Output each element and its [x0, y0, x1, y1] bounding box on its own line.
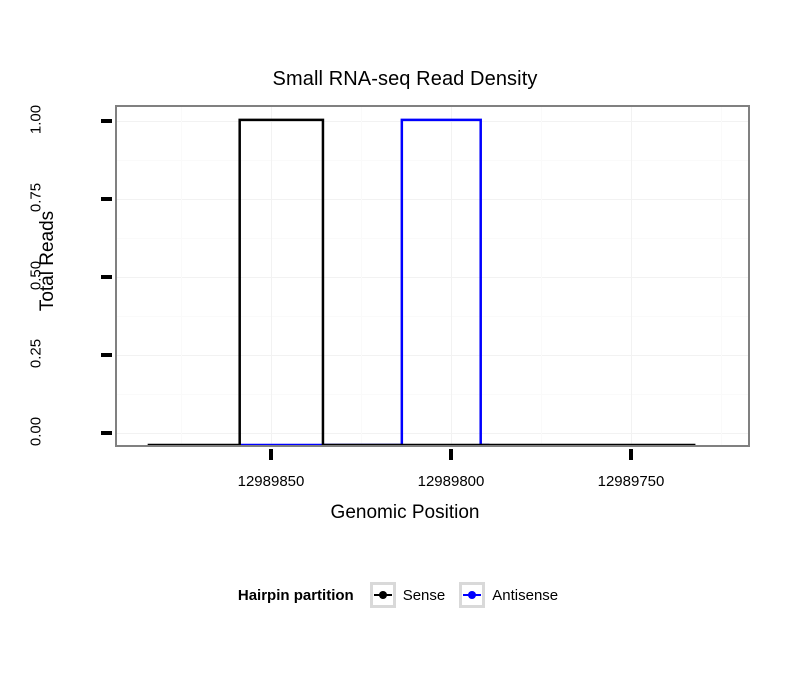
series-line-antisense [240, 120, 490, 445]
y-tick-mark-4 [101, 119, 112, 123]
x-tick-label-1: 12989800 [371, 473, 531, 490]
x-tick-mark-2 [629, 449, 633, 460]
chart-legend: Hairpin partition Sense Antisense [0, 582, 810, 608]
legend-entry-sense[interactable]: Sense [370, 582, 446, 608]
x-tick-label-0: 12989850 [191, 473, 351, 490]
page-title: Small RNA-seq Read Density [0, 68, 810, 91]
legend-key-antisense-icon [459, 582, 485, 608]
y-tick-mark-0 [101, 431, 112, 435]
y-tick-label-0: 0.00 [28, 392, 45, 472]
legend-title: Hairpin partition [238, 587, 354, 604]
y-tick-label-4: 1.00 [28, 80, 45, 160]
legend-point-antisense [468, 591, 476, 599]
panel-inner [117, 107, 748, 445]
legend-label-antisense: Antisense [492, 587, 558, 604]
x-tick-mark-1 [449, 449, 453, 460]
legend-label-sense: Sense [403, 587, 446, 604]
x-axis-title: Genomic Position [0, 502, 810, 524]
series-line-sense [148, 120, 696, 445]
legend-entry-antisense[interactable]: Antisense [459, 582, 558, 608]
y-tick-mark-3 [101, 197, 112, 201]
y-tick-mark-1 [101, 353, 112, 357]
y-tick-mark-2 [101, 275, 112, 279]
y-tick-label-2: 0.50 [28, 236, 45, 316]
series-layer [117, 107, 748, 445]
y-tick-label-3: 0.75 [28, 158, 45, 238]
legend-point-sense [379, 591, 387, 599]
y-tick-label-1: 0.25 [28, 314, 45, 394]
x-tick-label-2: 12989750 [551, 473, 711, 490]
plot-panel [115, 105, 750, 447]
legend-key-sense-icon [370, 582, 396, 608]
x-tick-mark-0 [269, 449, 273, 460]
